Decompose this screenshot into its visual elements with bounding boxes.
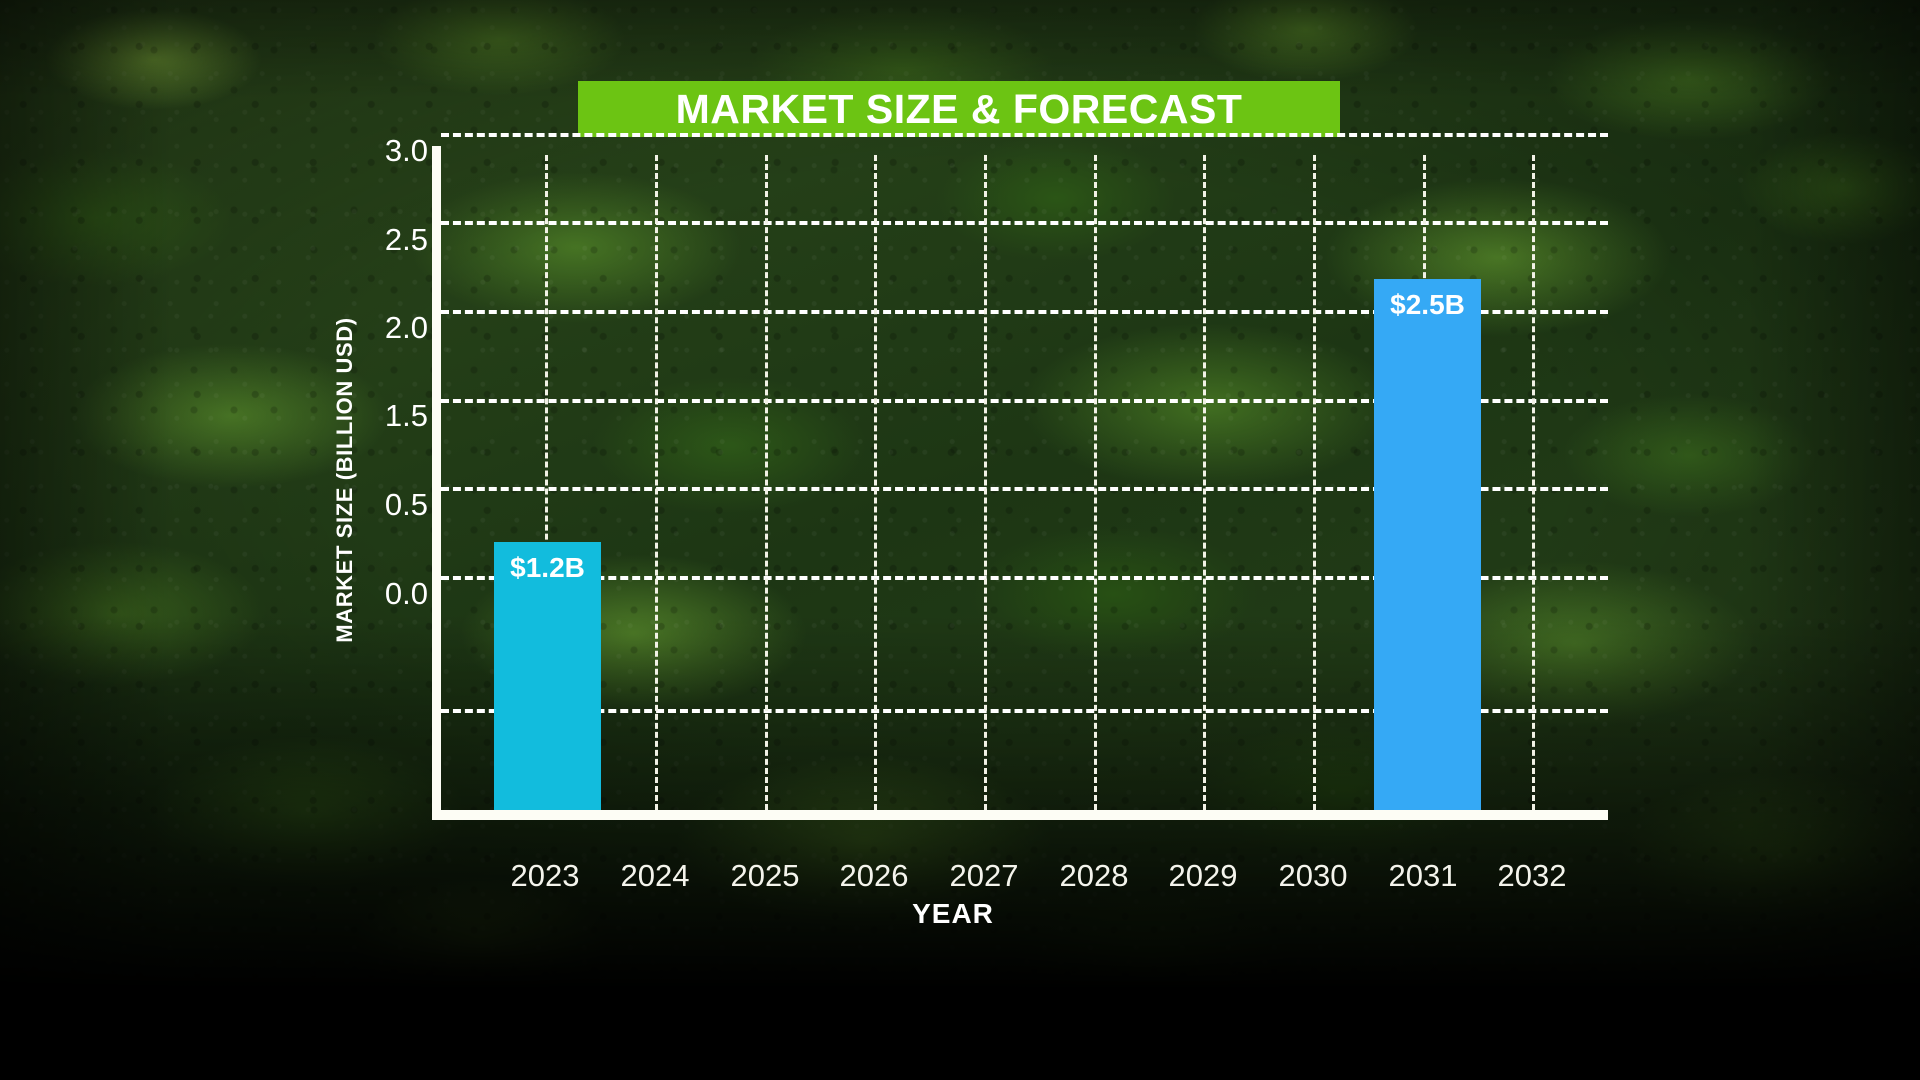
y-axis-line [432, 146, 441, 810]
y-tick-label: 0.0 [358, 578, 428, 609]
chart-slide: MARKET SIZE & FORECAST MARKET SIZE (BILL… [0, 0, 1920, 1080]
gridline-horizontal-2-5 [441, 221, 1608, 225]
plot-area: $1.2B $2.5B [432, 155, 1608, 820]
y-tick-label: 0.5 [358, 489, 428, 520]
gridline-vertical-2026 [874, 155, 877, 810]
bar-value-label: $1.2B [494, 552, 601, 584]
y-tick-label: 3.0 [358, 135, 428, 166]
x-axis-line [432, 810, 1608, 820]
y-tick-label: 2.5 [358, 224, 428, 255]
bar-value-label: $2.5B [1374, 289, 1481, 321]
x-axis-title-label: YEAR [912, 898, 994, 930]
gridline-vertical-2030 [1313, 155, 1316, 810]
gridline-vertical-2025 [765, 155, 768, 810]
gridline-vertical-2028 [1094, 155, 1097, 810]
gridline-vertical-2027 [984, 155, 987, 810]
x-axis-title: YEAR [0, 898, 1920, 930]
x-tick-label-2032: 2032 [1452, 860, 1612, 891]
y-tick-label: 2.0 [358, 312, 428, 343]
bar-2023[interactable]: $1.2B [494, 542, 601, 810]
gridline-horizontal-3-0 [441, 133, 1608, 137]
y-tick-label: 1.5 [358, 400, 428, 431]
gridline-vertical-2029 [1203, 155, 1206, 810]
gridline-vertical-2024 [655, 155, 658, 810]
gridline-vertical-2032 [1532, 155, 1535, 810]
bar-2031[interactable]: $2.5B [1374, 279, 1481, 810]
